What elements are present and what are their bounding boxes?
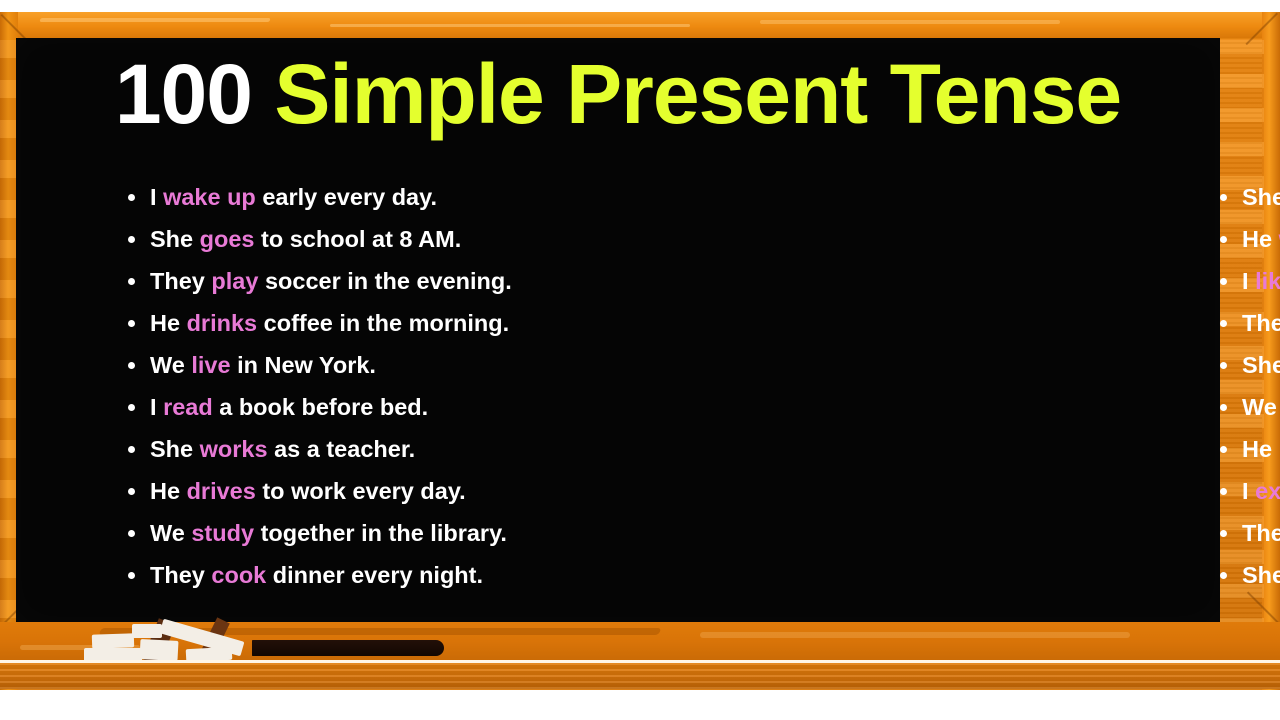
list-item: He drives to work every day. — [128, 470, 600, 512]
verb-highlight: live — [191, 352, 230, 378]
sentence-columns: I wake up early every day. She goes to s… — [16, 176, 1220, 606]
bullet-icon — [1220, 194, 1227, 201]
bullet-icon — [128, 488, 135, 495]
sentence-suffix: coffee in the morning. — [257, 310, 509, 336]
verb-highlight: drives — [187, 478, 256, 504]
list-item: She goes to school at 8 AM. — [128, 218, 600, 260]
verb-highlight: exercise — [1255, 478, 1280, 504]
list-item: We visit our grandparents every summer. — [1220, 386, 1242, 428]
sentence-prefix: She — [150, 226, 200, 252]
verb-highlight: like — [1255, 268, 1280, 294]
verb-highlight: study — [191, 520, 254, 546]
sentence-prefix: They — [150, 562, 211, 588]
chalk-piece — [92, 633, 134, 648]
sentence-prefix: She — [1242, 562, 1280, 588]
sentence-suffix: a book before bed. — [213, 394, 428, 420]
bullet-icon — [1220, 488, 1227, 495]
sentence-suffix: to school at 8 AM. — [255, 226, 462, 252]
sentence-prefix: I — [150, 394, 163, 420]
list-item: They cook dinner every night. — [128, 554, 600, 596]
sentence-suffix: dinner every night. — [266, 562, 483, 588]
sentence-prefix: I — [1242, 268, 1255, 294]
wood-grain-texture — [0, 40, 16, 625]
list-item: He drinks coffee in the morning. — [128, 302, 600, 344]
bullet-icon — [128, 572, 135, 579]
list-item: They play soccer in the evening. — [128, 260, 600, 302]
bullet-icon — [1220, 362, 1227, 369]
wood-grain-streak — [39, 18, 270, 22]
right-column: She walks to the park every morning. He … — [600, 176, 1220, 606]
bullet-icon — [1220, 446, 1227, 453]
bullet-icon — [128, 446, 135, 453]
sentence-suffix: soccer in the evening. — [258, 268, 511, 294]
left-column: I wake up early every day. She goes to s… — [16, 176, 600, 606]
bullet-icon — [128, 404, 135, 411]
title-count: 100 — [115, 47, 252, 141]
bullet-icon — [128, 278, 135, 285]
sentence-suffix: in New York. — [231, 352, 376, 378]
sentence-prefix: We — [150, 520, 191, 546]
sentence-suffix: together in the library. — [254, 520, 507, 546]
wood-grain-streak — [760, 20, 1060, 24]
ledge-front-rail — [0, 663, 1280, 689]
list-item: I exercise every morning. — [1220, 470, 1242, 512]
sentence-prefix: They — [1242, 520, 1280, 546]
verb-highlight: play — [211, 268, 258, 294]
sentence-prefix: I — [150, 184, 163, 210]
list-item: I wake up early every day. — [128, 176, 600, 218]
sentence-prefix: We — [1242, 394, 1280, 420]
sentence-prefix: I — [1242, 478, 1255, 504]
sentence-prefix: They — [150, 268, 211, 294]
sentence-prefix: She — [1242, 184, 1280, 210]
sentence-suffix: as a teacher. — [268, 436, 416, 462]
list-item: He washes the car on Sundays. — [1220, 218, 1242, 260]
bullet-icon — [1220, 278, 1227, 285]
sentence-suffix: early every day. — [256, 184, 437, 210]
list-item: They watch TV in the evening. — [1220, 302, 1242, 344]
page-title: 100 Simple Present Tense — [16, 50, 1220, 138]
title-text: Simple Present Tense — [274, 47, 1121, 141]
bullet-icon — [128, 320, 135, 327]
sentence-suffix: to work every day. — [256, 478, 466, 504]
bullet-icon — [1220, 530, 1227, 537]
chalk-piece — [132, 624, 162, 638]
list-item: We study together in the library. — [128, 512, 600, 554]
sentence-prefix: She — [1242, 352, 1280, 378]
list-item: He plays the guitar on weekends. — [1220, 428, 1242, 470]
bullet-icon — [128, 530, 135, 537]
sentence-prefix: He — [150, 310, 187, 336]
chalk-piece — [140, 639, 179, 661]
wood-grain-streak — [330, 24, 690, 27]
wood-grain-streak — [700, 632, 1130, 638]
bullet-icon — [128, 362, 135, 369]
verb-highlight: wake up — [163, 184, 256, 210]
list-item: She walks to the park every morning. — [1220, 176, 1242, 218]
sentence-list-left: I wake up early every day. She goes to s… — [128, 176, 600, 596]
sentence-prefix: They — [1242, 310, 1280, 336]
bullet-icon — [1220, 236, 1227, 243]
sentence-prefix: He — [1242, 226, 1279, 252]
list-item: She paints beautiful pictures. — [1220, 554, 1242, 596]
list-item: We live in New York. — [128, 344, 600, 386]
slide-canvas: 100 Simple Present Tense I wake up early… — [0, 0, 1280, 720]
verb-highlight: drinks — [187, 310, 258, 336]
list-item: I read a book before bed. — [128, 386, 600, 428]
verb-highlight: goes — [200, 226, 255, 252]
list-item: I like to eat ice cream. — [1220, 260, 1242, 302]
sentence-prefix: We — [150, 352, 191, 378]
verb-highlight: read — [163, 394, 213, 420]
sentence-prefix: He — [150, 478, 187, 504]
verb-highlight: cook — [211, 562, 266, 588]
bullet-icon — [1220, 404, 1227, 411]
sentence-prefix: She — [150, 436, 200, 462]
sentence-prefix: He — [1242, 436, 1279, 462]
bullet-icon — [128, 194, 135, 201]
bullet-icon — [1220, 320, 1227, 327]
board-eraser — [252, 640, 444, 656]
verb-highlight: works — [200, 436, 268, 462]
list-item: She works as a teacher. — [128, 428, 600, 470]
list-item: They enjoy watching movies. — [1220, 512, 1242, 554]
bullet-icon — [128, 236, 135, 243]
bullet-icon — [1220, 572, 1227, 579]
list-item: She teaches English at the local school. — [1220, 344, 1242, 386]
frame-right-stile — [1262, 12, 1280, 690]
